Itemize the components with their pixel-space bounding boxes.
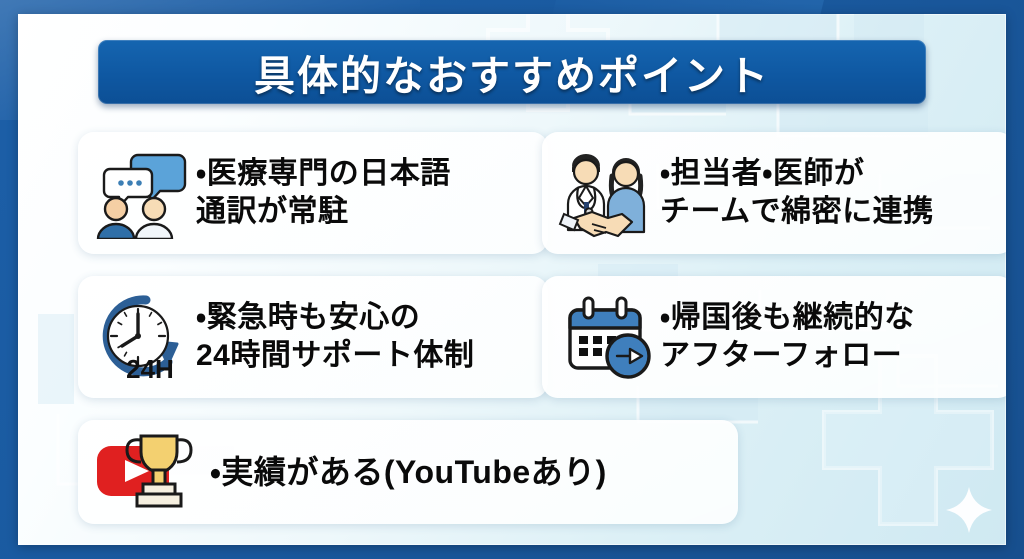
calendar-arrow-icon <box>556 292 660 382</box>
point-card-track-record[interactable]: ・実績がある(YouTubeあり) <box>78 420 738 524</box>
clock-24h-icon: 24H <box>92 290 196 384</box>
content-panel: 具体的なおすすめポイント <box>18 14 1006 545</box>
slide-root: 具体的なおすすめポイント <box>0 0 1024 559</box>
sparkle-icon <box>946 487 992 533</box>
youtube-trophy-icon <box>92 430 210 514</box>
point-card-team[interactable]: ・担当者・医師が チームで綿密に連携 <box>542 132 1006 254</box>
title-banner: 具体的なおすすめポイント <box>98 40 926 104</box>
point-card-text: ・帰国後も継続的な アフターフォロー <box>660 299 915 375</box>
doctor-nurse-handshake-icon <box>556 146 660 240</box>
page-title: 具体的なおすすめポイント <box>254 42 770 102</box>
point-card-text: ・実績がある(YouTubeあり) <box>210 452 607 492</box>
clock-24h-label: 24H <box>126 354 174 384</box>
point-card-text: ・医療専門の日本語 通訳が常駐 <box>196 155 451 231</box>
point-card-followup[interactable]: ・帰国後も継続的な アフターフォロー <box>542 276 1006 398</box>
point-card-text: ・担当者・医師が チームで綿密に連携 <box>660 155 934 231</box>
people-speech-bubbles-icon <box>92 147 196 239</box>
point-card-interpreter[interactable]: ・医療専門の日本語 通訳が常駐 <box>78 132 548 254</box>
point-card-text: ・緊急時も安心の 24時間サポート体制 <box>196 299 474 375</box>
point-card-support[interactable]: 24H ・緊急時も安心の 24時間サポート体制 <box>78 276 548 398</box>
